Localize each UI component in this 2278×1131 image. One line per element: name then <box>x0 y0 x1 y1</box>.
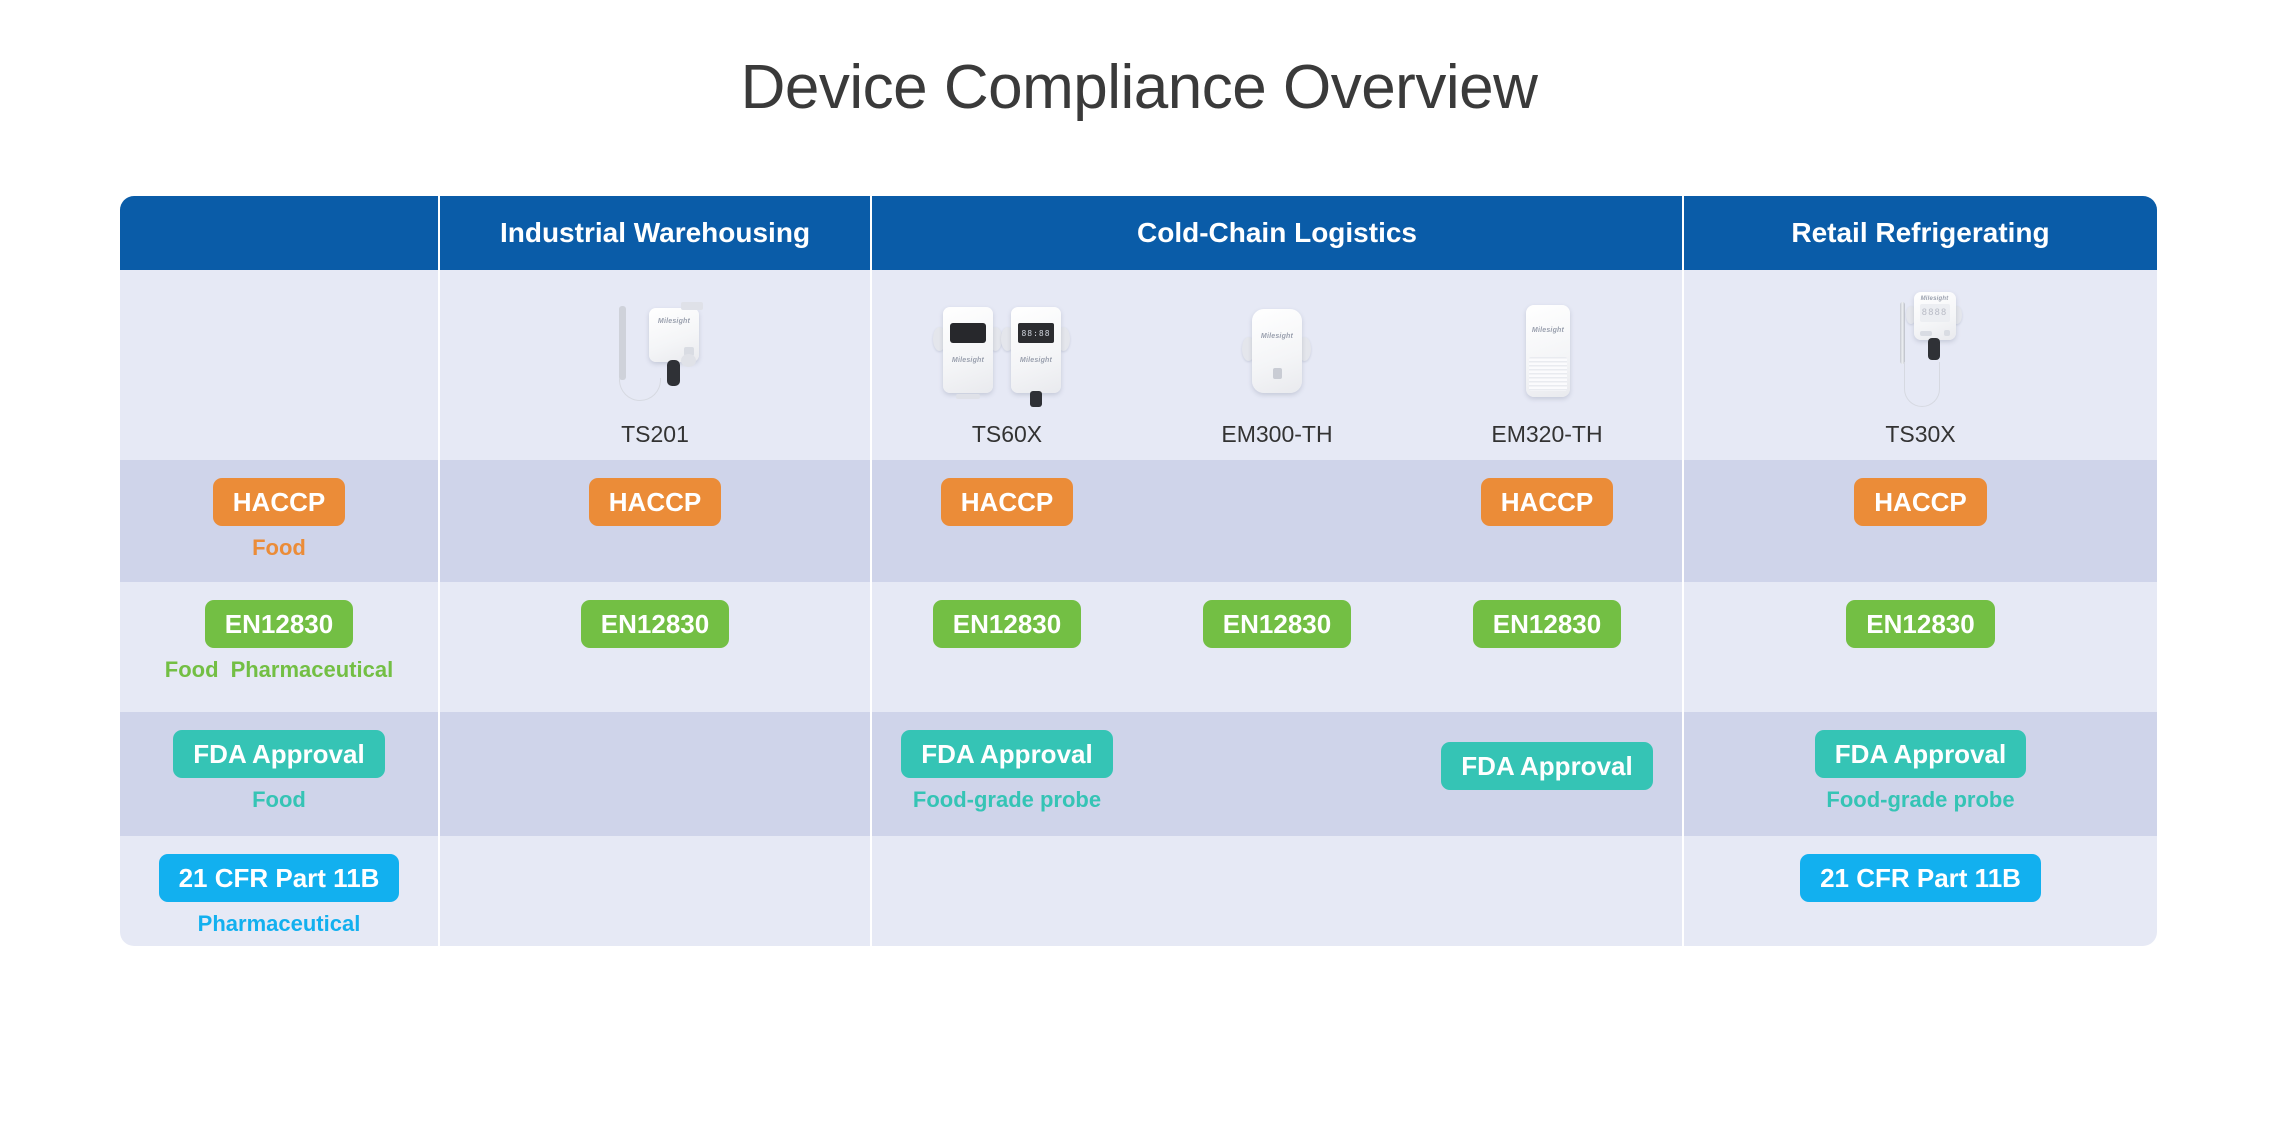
badge-en12830-ts60x[interactable]: EN12830 <box>933 600 1081 648</box>
device-image-ts60x: Milesight 88:88 Milesight <box>902 289 1112 415</box>
legend-cell-en12830: EN12830 Food Pharmaceutical <box>120 582 438 712</box>
slot-ts60x: FDA Approval Food-grade probe <box>902 730 1112 813</box>
cell-en12830-cold-chain: EN12830 EN12830 EN12830 <box>870 582 1682 712</box>
badge-haccp-ts60x[interactable]: HACCP <box>941 478 1073 526</box>
legend-sublabel-en12830: Food Pharmaceutical <box>165 657 393 683</box>
slot-ts30x: EN12830 <box>1816 600 2026 648</box>
slot-em320-th: FDA Approval <box>1442 730 1652 790</box>
cell-fda-retail: FDA Approval Food-grade probe <box>1682 712 2157 836</box>
device-row: Milesight TS201 <box>120 270 2157 460</box>
cert-row-21-cfr-part-11b: 21 CFR Part 11B Pharmaceutical 21 CFR Pa… <box>120 836 2157 946</box>
legend-sublabel-fda: Food <box>252 787 306 813</box>
cert-row-fda-approval: FDA Approval Food FDA Approval Food-grad… <box>120 712 2157 836</box>
badge-haccp-ts201[interactable]: HACCP <box>589 478 721 526</box>
cell-fda-cold-chain: FDA Approval Food-grade probe FDA Approv… <box>870 712 1682 836</box>
legend-cell-fda: FDA Approval Food <box>120 712 438 836</box>
sublabel-fda-ts30x: Food-grade probe <box>1826 787 2014 813</box>
cell-cfr-retail: 21 CFR Part 11B <box>1682 836 2157 946</box>
badge-fda-em320-th[interactable]: FDA Approval <box>1441 742 1652 790</box>
cell-en12830-retail: EN12830 <box>1682 582 2157 712</box>
device-cell-legend <box>120 270 438 460</box>
compliance-table: Industrial Warehousing Cold-Chain Logist… <box>120 196 2157 946</box>
slot-ts60x: HACCP <box>902 478 1112 526</box>
device-cell-retail: Milesight 8888 TS30X <box>1682 270 2157 460</box>
legend-sublabel-pharmaceutical: Pharmaceutical <box>231 657 394 683</box>
cell-haccp-industrial: HACCP <box>438 460 870 582</box>
header-cell-retail-refrigerating: Retail Refrigerating <box>1682 196 2157 270</box>
device-name: EM320-TH <box>1491 421 1602 448</box>
header-cell-cold-chain-logistics: Cold-Chain Logistics <box>870 196 1682 270</box>
device-cell-cold-chain: Milesight 88:88 Milesight <box>870 270 1682 460</box>
device-name: TS60X <box>972 421 1042 448</box>
compliance-overview-page: Device Compliance Overview Industrial Wa… <box>0 0 2278 1131</box>
cell-cfr-industrial <box>438 836 870 946</box>
table-header-row: Industrial Warehousing Cold-Chain Logist… <box>120 196 2157 270</box>
legend-cell-haccp: HACCP Food <box>120 460 438 582</box>
page-title: Device Compliance Overview <box>0 52 2278 123</box>
slot-em320-th: EN12830 <box>1442 600 1652 648</box>
cell-haccp-cold-chain: HACCP HACCP <box>870 460 1682 582</box>
cell-cfr-cold-chain <box>870 836 1682 946</box>
cert-row-haccp: HACCP Food HACCP HACCP HACCP <box>120 460 2157 582</box>
legend-sublabel-haccp: Food <box>252 535 306 561</box>
badge-cfr-legend[interactable]: 21 CFR Part 11B <box>159 854 400 902</box>
device-image-ts30x: Milesight 8888 <box>1816 289 2026 415</box>
badge-en12830-em300-th[interactable]: EN12830 <box>1203 600 1351 648</box>
device-image-ts201: Milesight <box>550 289 760 415</box>
slot-ts30x: HACCP <box>1816 478 2026 526</box>
cert-row-en12830: EN12830 Food Pharmaceutical EN12830 EN12… <box>120 582 2157 712</box>
badge-en12830-ts201[interactable]: EN12830 <box>581 600 729 648</box>
slot-ts30x: 21 CFR Part 11B <box>1816 854 2026 902</box>
legend-cell-cfr: 21 CFR Part 11B Pharmaceutical <box>120 836 438 946</box>
cell-en12830-industrial: EN12830 <box>438 582 870 712</box>
slot-em320-th: HACCP <box>1442 478 1652 526</box>
device-ts30x[interactable]: Milesight 8888 TS30X <box>1816 270 2026 452</box>
badge-cfr-ts30x[interactable]: 21 CFR Part 11B <box>1800 854 2041 902</box>
slot-ts60x: EN12830 <box>902 600 1112 648</box>
header-cell-industrial-warehousing: Industrial Warehousing <box>438 196 870 270</box>
device-cell-industrial: Milesight TS201 <box>438 270 870 460</box>
cell-haccp-retail: HACCP <box>1682 460 2157 582</box>
sublabel-fda-ts60x: Food-grade probe <box>913 787 1101 813</box>
badge-haccp-legend[interactable]: HACCP <box>213 478 345 526</box>
device-image-em300-th: Milesight <box>1172 289 1382 415</box>
badge-en12830-ts30x[interactable]: EN12830 <box>1846 600 1994 648</box>
device-image-em320-th: Milesight <box>1442 289 1652 415</box>
device-ts201[interactable]: Milesight TS201 <box>550 270 760 452</box>
slot-ts30x: FDA Approval Food-grade probe <box>1816 730 2026 813</box>
device-em320-th[interactable]: Milesight EM320-TH <box>1442 270 1652 452</box>
device-name: EM300-TH <box>1221 421 1332 448</box>
device-ts60x[interactable]: Milesight 88:88 Milesight <box>902 270 1112 452</box>
badge-haccp-ts30x[interactable]: HACCP <box>1854 478 1986 526</box>
badge-en12830-em320-th[interactable]: EN12830 <box>1473 600 1621 648</box>
legend-sublabel-food: Food <box>165 657 219 683</box>
header-cell-legend <box>120 196 438 270</box>
slot-ts201: HACCP <box>550 478 760 526</box>
badge-fda-ts60x[interactable]: FDA Approval <box>901 730 1112 778</box>
cell-fda-industrial <box>438 712 870 836</box>
badge-fda-ts30x[interactable]: FDA Approval <box>1815 730 2026 778</box>
badge-fda-legend[interactable]: FDA Approval <box>173 730 384 778</box>
legend-sublabel-cfr: Pharmaceutical <box>198 911 361 937</box>
slot-ts201: EN12830 <box>550 600 760 648</box>
slot-em300-th: EN12830 <box>1172 600 1382 648</box>
device-name: TS201 <box>621 421 689 448</box>
device-em300-th[interactable]: Milesight EM300-TH <box>1172 270 1382 452</box>
badge-haccp-em320-th[interactable]: HACCP <box>1481 478 1613 526</box>
badge-en12830-legend[interactable]: EN12830 <box>205 600 353 648</box>
device-name: TS30X <box>1885 421 1955 448</box>
